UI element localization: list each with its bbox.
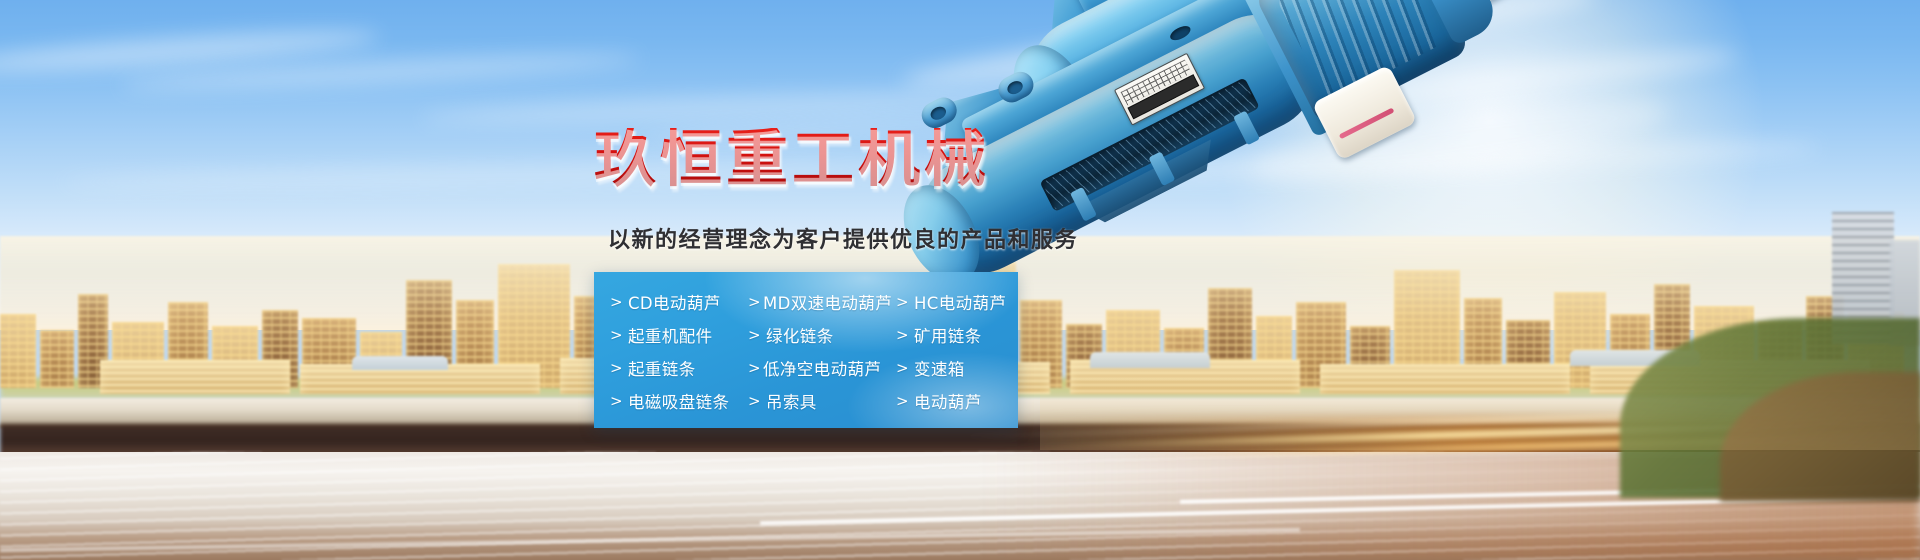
chevron-right-icon: > bbox=[748, 326, 764, 344]
chevron-right-icon: > bbox=[896, 326, 912, 344]
chevron-right-icon: > bbox=[610, 359, 626, 377]
product-link-label: 起重链条 bbox=[628, 356, 696, 380]
chevron-right-icon: > bbox=[748, 392, 764, 410]
product-link-label: 变速箱 bbox=[914, 356, 965, 380]
electric-hoist-product-photo bbox=[1040, 40, 1920, 460]
product-link-label: 吊索具 bbox=[766, 389, 817, 413]
product-link[interactable]: >起重链条 bbox=[594, 356, 732, 380]
beam-lifting-hole bbox=[1168, 23, 1193, 43]
product-link-label: HC电动葫芦 bbox=[914, 290, 1006, 314]
chevron-right-icon: > bbox=[610, 326, 626, 344]
chevron-right-icon: > bbox=[896, 293, 912, 311]
product-category-panel: >CD电动葫芦>MD双速电动葫芦>HC电动葫芦>起重机配件>绿化链条>矿用链条>… bbox=[594, 272, 1018, 428]
product-link-label: 电磁吸盘链条 bbox=[628, 389, 729, 413]
product-link[interactable]: >HC电动葫芦 bbox=[880, 290, 1018, 314]
banner-subheadline: 以新的经营理念为客户提供优良的产品和服务 bbox=[608, 222, 1078, 254]
chevron-right-icon: > bbox=[896, 359, 912, 377]
product-link[interactable]: >绿化链条 bbox=[732, 323, 880, 347]
chevron-right-icon: > bbox=[610, 293, 626, 311]
product-link-label: MD双速电动葫芦 bbox=[763, 290, 892, 314]
product-link[interactable]: >电动葫芦 bbox=[880, 389, 1018, 413]
product-link[interactable]: >电磁吸盘链条 bbox=[594, 389, 732, 413]
product-link[interactable]: >吊索具 bbox=[732, 389, 880, 413]
product-link-label: 绿化链条 bbox=[766, 323, 834, 347]
hero-banner: 玖恒重工机械 以新的经营理念为客户提供优良的产品和服务 >CD电动葫芦>MD双速… bbox=[0, 0, 1920, 560]
product-category-grid: >CD电动葫芦>MD双速电动葫芦>HC电动葫芦>起重机配件>绿化链条>矿用链条>… bbox=[594, 285, 1018, 417]
product-link[interactable]: >CD电动葫芦 bbox=[594, 290, 732, 314]
banner-headline: 玖恒重工机械 bbox=[594, 128, 990, 190]
product-link-label: CD电动葫芦 bbox=[628, 290, 721, 314]
product-link-label: 电动葫芦 bbox=[914, 389, 982, 413]
product-link[interactable]: >低净空电动葫芦 bbox=[732, 356, 880, 380]
product-link[interactable]: >矿用链条 bbox=[880, 323, 1018, 347]
chevron-right-icon: > bbox=[748, 293, 761, 311]
product-link[interactable]: >MD双速电动葫芦 bbox=[732, 290, 880, 314]
chevron-right-icon: > bbox=[748, 359, 761, 377]
product-link-label: 低净空电动葫芦 bbox=[763, 356, 881, 380]
chevron-right-icon: > bbox=[610, 392, 626, 410]
product-link-label: 矿用链条 bbox=[914, 323, 982, 347]
chevron-right-icon: > bbox=[896, 392, 912, 410]
product-link[interactable]: >变速箱 bbox=[880, 356, 1018, 380]
product-link-label: 起重机配件 bbox=[628, 323, 713, 347]
product-link[interactable]: >起重机配件 bbox=[594, 323, 732, 347]
